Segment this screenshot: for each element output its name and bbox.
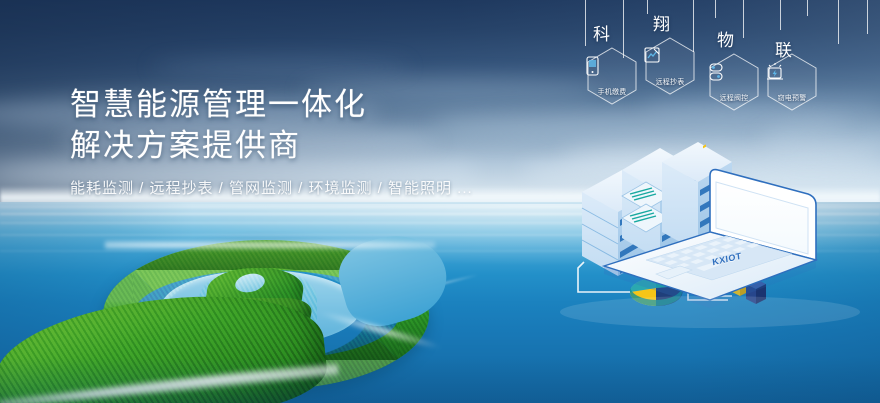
headline-line-1: 智慧能源管理一体化 — [70, 84, 530, 125]
island-foam — [105, 238, 435, 252]
hanging-line — [715, 0, 716, 18]
feature-badge-remote-valve-control[interactable]: 远程阀控 — [707, 52, 761, 112]
tech-illustration: KXIOT — [560, 140, 880, 330]
feature-label: 手机缴费 — [585, 87, 639, 97]
hanging-line — [867, 0, 868, 34]
hexagon-outline-icon — [707, 52, 761, 112]
feature-label: 窃电预警 — [765, 93, 819, 103]
brand-char-1: 科 — [593, 20, 611, 45]
hanging-line — [838, 0, 839, 44]
bottom-fade — [0, 357, 880, 403]
hero-banner: 智慧能源管理一体化 解决方案提供商 能耗监测 / 远程抄表 / 管网监测 / 环… — [0, 0, 880, 403]
hexagon-outline-icon — [765, 52, 819, 112]
hexagon-outline-icon — [643, 36, 697, 96]
feature-badge-mobile-payment[interactable]: 手机缴费 — [585, 46, 639, 106]
hanging-line — [807, 0, 808, 16]
headline-line-2: 解决方案提供商 — [70, 125, 530, 166]
feature-label: 远程阀控 — [707, 93, 761, 103]
feature-label: 远程抄表 — [643, 77, 697, 87]
brand-char-3: 物 — [717, 26, 735, 51]
feature-badge-remote-meter-reading[interactable]: 远程抄表 — [643, 36, 697, 96]
headline-block: 智慧能源管理一体化 解决方案提供商 能耗监测 / 远程抄表 / 管网监测 / 环… — [70, 84, 530, 198]
subheadline: 能耗监测 / 远程抄表 / 管网监测 / 环境监测 / 智能照明 ... — [70, 177, 530, 198]
hanging-line — [780, 0, 781, 30]
feature-badge-group: 科 翔 物 联 手机缴费 — [575, 0, 880, 112]
feature-badge-power-theft-alert[interactable]: 窃电预警 — [765, 52, 819, 112]
hanging-line — [743, 0, 744, 38]
brand-char-2: 翔 — [653, 10, 671, 35]
hanging-line — [585, 0, 586, 46]
hanging-line — [647, 0, 648, 14]
hexagon-outline-icon — [585, 46, 639, 106]
